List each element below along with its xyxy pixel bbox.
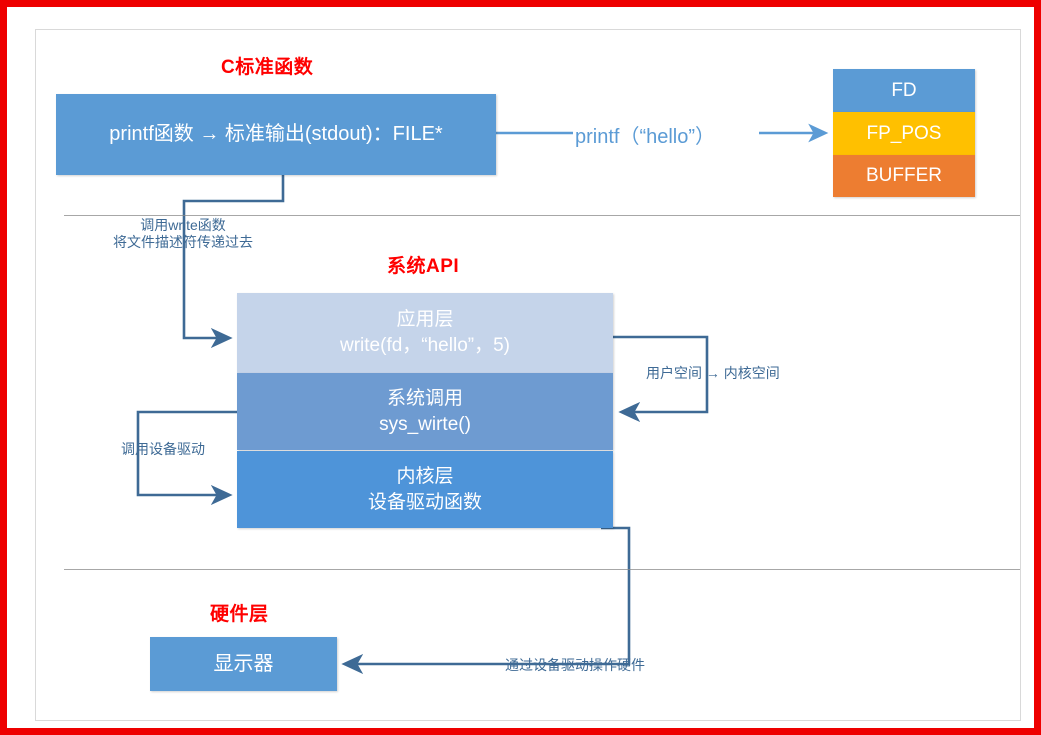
- diagram-canvas: C标准函数 系统API 硬件层 printf函数 → 标准输出(stdout)：…: [0, 0, 1041, 735]
- kernel-layer-box: 内核层 设备驱动函数: [237, 451, 613, 528]
- printf-stdout-box: printf函数 → 标准输出(stdout)：FILE*: [56, 94, 496, 175]
- file-struct-buffer-block: BUFFER: [833, 155, 975, 197]
- kernel-layer-subtitle: 设备驱动函数: [368, 490, 482, 516]
- annotation-driver-operates-hardware: 通过设备驱动操作硬件: [505, 656, 645, 675]
- fp-pos-label: FP_POS: [867, 121, 942, 147]
- monitor-box: 显示器: [150, 637, 337, 691]
- application-layer-title: 应用层: [396, 307, 453, 333]
- section-title-hardware: 硬件层: [210, 599, 269, 626]
- buffer-label: BUFFER: [866, 163, 942, 189]
- system-call-title: 系统调用: [387, 386, 463, 412]
- file-struct-fd-block: FD: [833, 69, 975, 112]
- section-title-c-standard: C标准函数: [221, 52, 313, 79]
- annotation-user-to-kernel-space: 用户空间 → 内核空间: [646, 364, 780, 383]
- printf-stdout-label: printf函数 → 标准输出(stdout)：FILE*: [109, 121, 442, 148]
- application-layer-box: 应用层 write(fd，“hello”，5): [237, 293, 613, 373]
- system-call-code: sys_wirte(): [379, 412, 471, 438]
- section-title-system-api: 系统API: [387, 251, 459, 278]
- kernel-layer-title: 内核层: [396, 464, 453, 490]
- annotation-call-device-driver: 调用设备驱动: [121, 440, 205, 459]
- annotation-write-call-line2: 将文件描述符传递过去: [88, 233, 278, 252]
- system-call-layer-box: 系统调用 sys_wirte(): [237, 373, 613, 450]
- fd-label: FD: [891, 78, 916, 104]
- monitor-label: 显示器: [214, 651, 274, 678]
- divider-line-bottom: [64, 569, 1020, 570]
- file-struct-fppos-block: FP_POS: [833, 112, 975, 155]
- application-layer-code: write(fd，“hello”，5): [340, 333, 510, 359]
- annotation-printf-hello: printf（“hello”）: [575, 120, 715, 149]
